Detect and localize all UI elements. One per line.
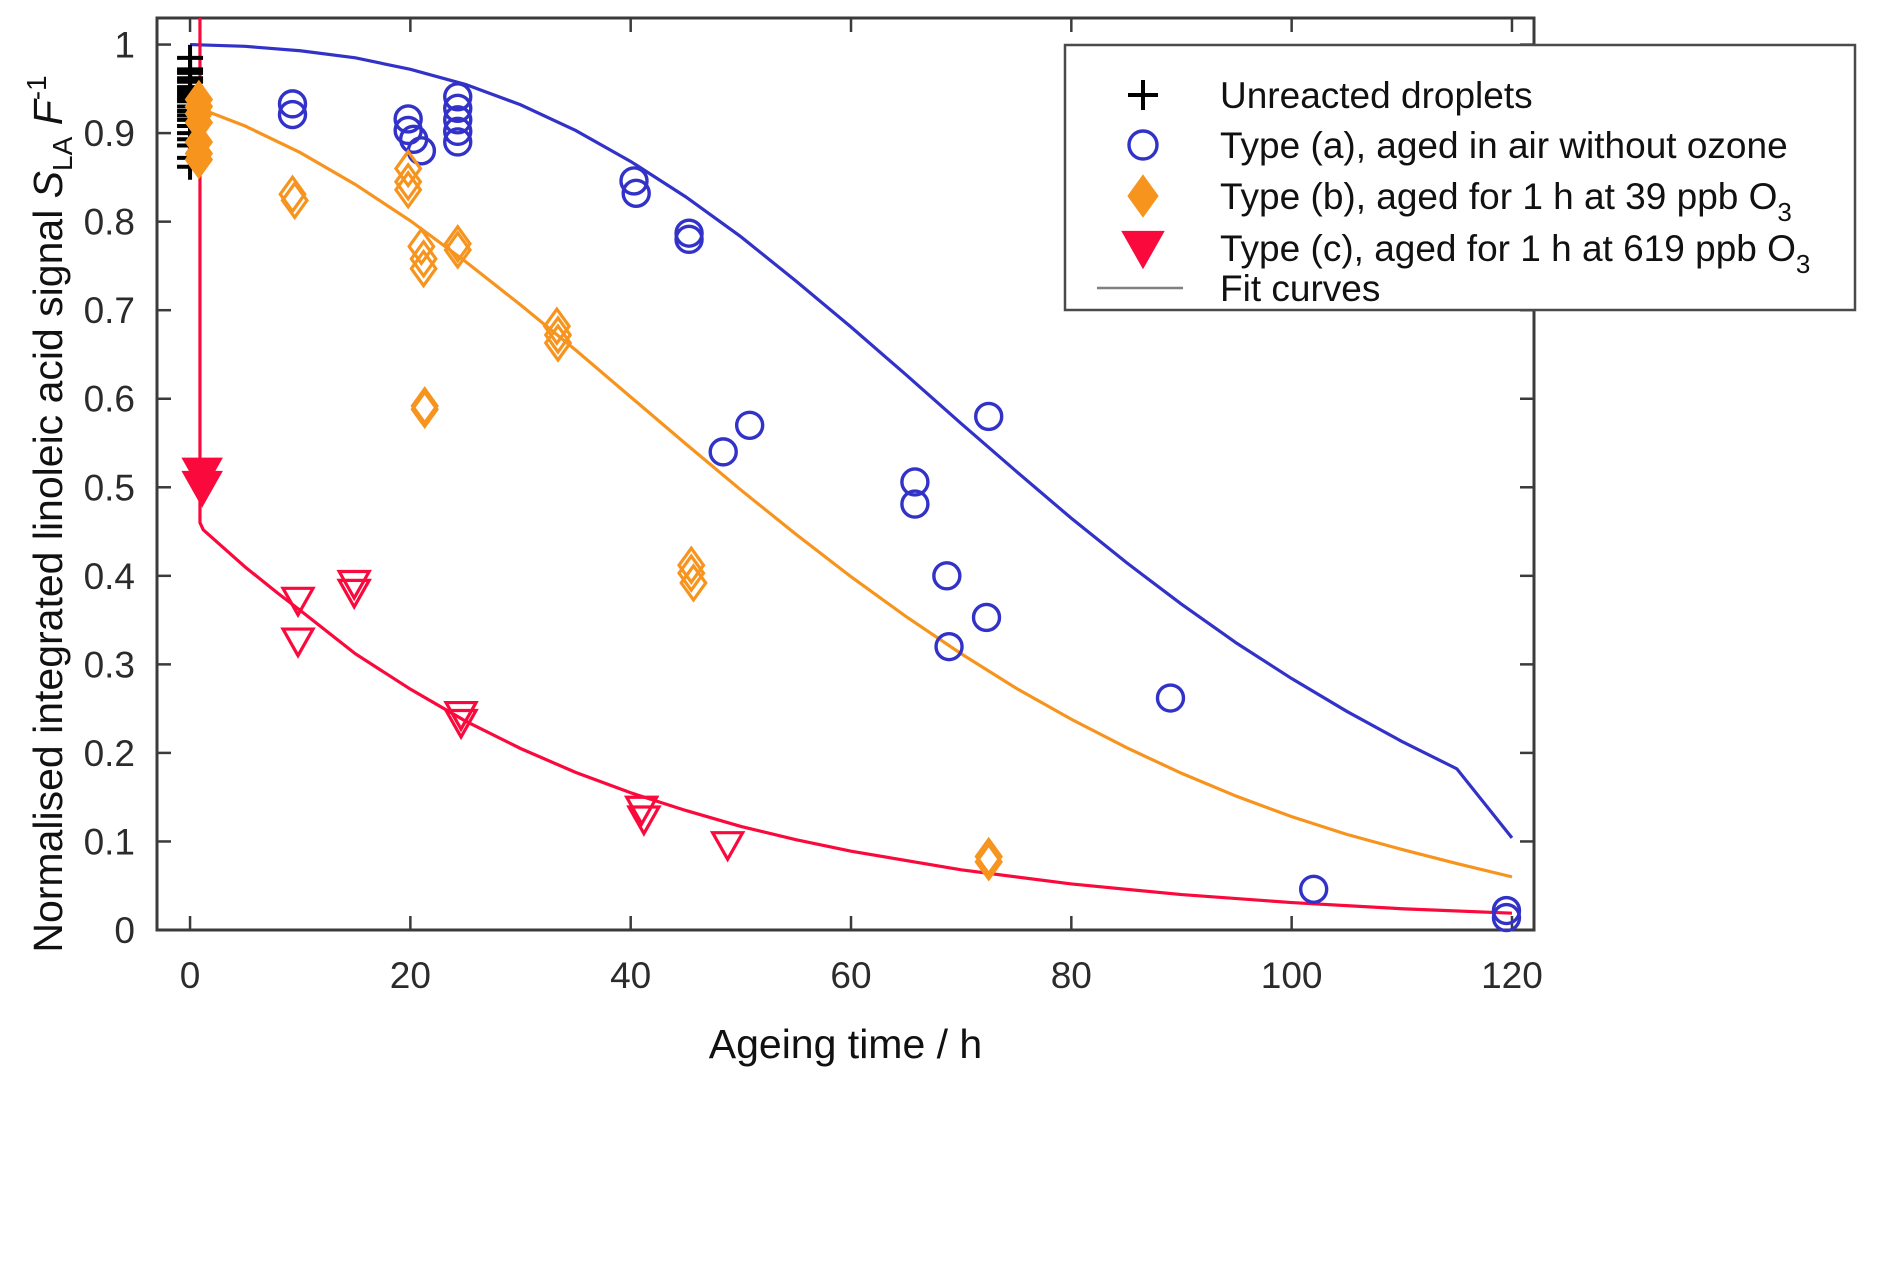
y-tick-label: 0.3 bbox=[84, 644, 135, 685]
y-axis-title-text: Normalised integrated linoleic acid sign… bbox=[21, 75, 78, 952]
x-tick-label: 40 bbox=[610, 955, 651, 996]
y-title-main: Normalised integrated linoleic acid sign… bbox=[25, 198, 71, 952]
data-point-triangle bbox=[713, 833, 743, 860]
legend-label[interactable]: Type (a), aged in air without ozone bbox=[1220, 125, 1788, 166]
data-point-circle bbox=[976, 403, 1002, 429]
legend-label[interactable]: Fit curves bbox=[1220, 268, 1380, 309]
legend-label-text: Type (a), aged in air without ozone bbox=[1220, 125, 1788, 166]
y-tick-label: 0.7 bbox=[84, 290, 135, 331]
legend-label-text: Fit curves bbox=[1220, 268, 1380, 309]
data-point-circle bbox=[710, 439, 736, 465]
y-tick-label: 0.4 bbox=[84, 556, 135, 597]
data-point-triangle bbox=[283, 629, 313, 656]
figure-container: 02040608010012000.10.20.30.40.50.60.70.8… bbox=[0, 0, 1892, 1278]
data-point-circle bbox=[974, 604, 1000, 630]
x-tick-label: 120 bbox=[1481, 955, 1543, 996]
data-point-triangle-filled bbox=[184, 473, 220, 505]
legend-label-text: Type (c), aged for 1 h at 619 ppb O bbox=[1220, 228, 1796, 269]
x-tick-label: 80 bbox=[1051, 955, 1092, 996]
x-axis-title: Ageing time / h bbox=[709, 1021, 983, 1067]
data-point-circle bbox=[934, 563, 960, 589]
legend-label-sub: 3 bbox=[1777, 197, 1791, 227]
legend-label[interactable]: Unreacted droplets bbox=[1220, 75, 1533, 116]
data-point-circle bbox=[1157, 685, 1183, 711]
y-axis-title: Normalised integrated linoleic acid sign… bbox=[21, 75, 78, 952]
data-point-circle bbox=[676, 226, 702, 252]
y-title-symbol: S bbox=[25, 171, 71, 198]
x-tick-label: 20 bbox=[390, 955, 431, 996]
x-tick-label: 100 bbox=[1261, 955, 1323, 996]
data-point-triangle bbox=[339, 580, 369, 607]
data-point-circle bbox=[676, 220, 702, 246]
legend-label-text: Type (b), aged for 1 h at 39 ppb O bbox=[1220, 176, 1777, 217]
data-point-triangle bbox=[339, 571, 369, 598]
y-title-symbol-sub: LA bbox=[47, 136, 78, 171]
y-tick-label: 0.1 bbox=[84, 821, 135, 862]
legend-label-text: Unreacted droplets bbox=[1220, 75, 1533, 116]
data-point-circle bbox=[737, 412, 763, 438]
data-point-circle bbox=[1301, 876, 1327, 902]
x-tick-label: 0 bbox=[180, 955, 201, 996]
chart-svg: 02040608010012000.10.20.30.40.50.60.70.8… bbox=[0, 0, 1892, 1278]
y-title-symbol2-sup: -1 bbox=[21, 75, 52, 100]
y-tick-label: 1 bbox=[114, 25, 135, 66]
y-tick-label: 0.5 bbox=[84, 467, 135, 508]
legend-label-sub: 3 bbox=[1796, 249, 1810, 279]
y-tick-label: 0.9 bbox=[84, 113, 135, 154]
y-title-symbol2: F bbox=[25, 98, 71, 136]
x-tick-label: 60 bbox=[830, 955, 871, 996]
y-tick-label: 0 bbox=[114, 910, 135, 951]
y-tick-label: 0.6 bbox=[84, 379, 135, 420]
y-tick-label: 0.8 bbox=[84, 202, 135, 243]
y-tick-label: 0.2 bbox=[84, 733, 135, 774]
